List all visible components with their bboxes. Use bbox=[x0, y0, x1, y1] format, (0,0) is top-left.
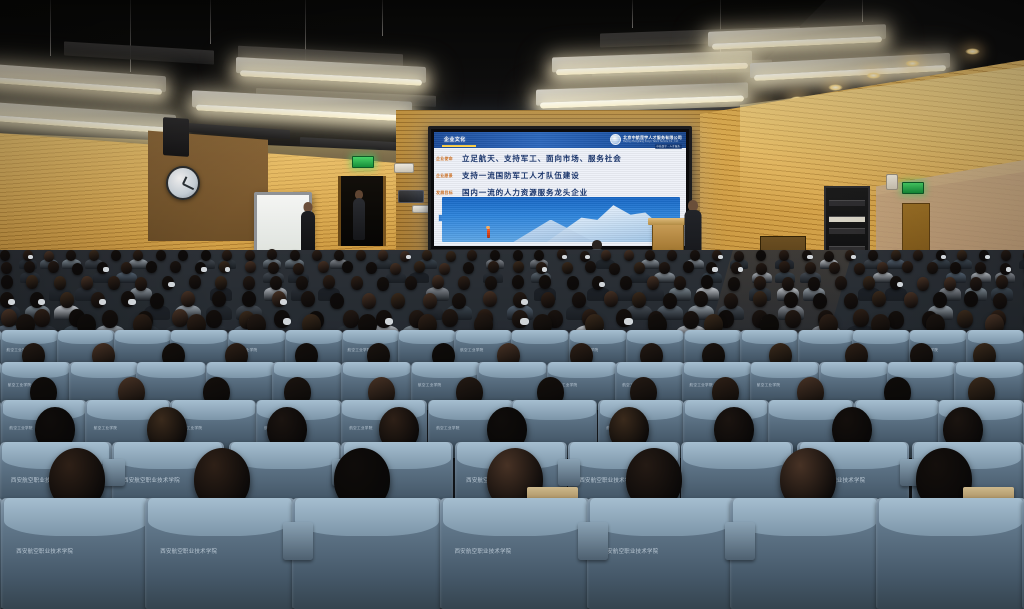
audience-head bbox=[405, 276, 417, 290]
audience-head bbox=[270, 276, 282, 290]
slide-line: 企业使命 立足航天、支持军工、面向市场、服务社会 bbox=[434, 150, 686, 167]
seat-headrest bbox=[910, 330, 966, 344]
seat-headrest bbox=[683, 442, 791, 469]
audience-head bbox=[342, 261, 353, 273]
audience-head bbox=[423, 293, 437, 309]
face-mask bbox=[225, 267, 231, 272]
audience-head bbox=[562, 262, 573, 274]
audience-head bbox=[970, 277, 982, 291]
speaker-icon bbox=[163, 117, 189, 157]
audience-head bbox=[835, 276, 847, 290]
wall-clock-icon bbox=[166, 166, 200, 200]
company-logo-mark bbox=[610, 134, 621, 145]
slide-line-tag: 企业使命 bbox=[436, 156, 462, 162]
audience-head bbox=[377, 277, 389, 291]
seat-headrest bbox=[590, 498, 734, 536]
audience-head bbox=[863, 276, 875, 290]
seat-armrest bbox=[558, 459, 580, 486]
audience-head bbox=[917, 277, 929, 291]
seat-headrest bbox=[286, 330, 342, 344]
seat-headrest bbox=[821, 362, 888, 378]
lamp-wire bbox=[130, 0, 131, 72]
seat-headrest bbox=[274, 362, 341, 378]
seat-headrest bbox=[207, 362, 274, 378]
lamp-wire bbox=[382, 0, 383, 36]
audience-head bbox=[632, 292, 646, 308]
audience-head bbox=[785, 310, 801, 328]
audience-head bbox=[694, 291, 708, 307]
audience-head bbox=[534, 250, 544, 261]
audience-head bbox=[964, 291, 978, 307]
audience-head bbox=[927, 262, 938, 274]
audience-head bbox=[60, 292, 74, 308]
audience-head bbox=[111, 250, 121, 261]
audience-head bbox=[891, 250, 901, 261]
audience-head bbox=[944, 277, 956, 291]
audience-head bbox=[133, 250, 143, 261]
audience-head bbox=[172, 309, 188, 327]
audience-head bbox=[72, 263, 83, 275]
audience-head bbox=[683, 261, 694, 273]
downlight bbox=[905, 60, 920, 67]
audience-head bbox=[1, 262, 12, 274]
seat-headrest bbox=[570, 330, 626, 344]
face-mask bbox=[585, 255, 590, 259]
audience-head bbox=[853, 309, 869, 327]
seat-headrest bbox=[171, 330, 227, 344]
downlight bbox=[828, 84, 843, 91]
lamp-wire bbox=[50, 0, 51, 56]
audience-head bbox=[1, 275, 13, 289]
wall-panel-plate[interactable] bbox=[886, 174, 898, 190]
audience-head bbox=[330, 293, 344, 309]
audience-head bbox=[512, 275, 524, 289]
auditorium-seat[interactable] bbox=[876, 498, 1024, 609]
staff-by-whiteboard bbox=[300, 202, 315, 254]
audience-head bbox=[779, 250, 789, 261]
audience-head bbox=[89, 250, 99, 261]
downlight bbox=[965, 48, 980, 55]
seat-headrest bbox=[617, 362, 684, 378]
audience-head bbox=[844, 293, 858, 309]
audience-head bbox=[933, 292, 947, 308]
seat-headrest bbox=[733, 498, 877, 536]
seat-brand-text: 西安航空职业技术学院 bbox=[123, 476, 180, 484]
seat-headrest bbox=[853, 330, 909, 344]
audience-head bbox=[659, 262, 670, 274]
seat-headrest bbox=[399, 330, 455, 344]
person-in-doorway bbox=[352, 190, 365, 240]
audience-head bbox=[293, 263, 304, 275]
audience-head bbox=[301, 291, 315, 307]
seat-armrest bbox=[578, 522, 608, 560]
seat-headrest bbox=[685, 330, 741, 344]
seat-headrest bbox=[548, 362, 615, 378]
seat-headrest bbox=[742, 330, 798, 344]
audience-head bbox=[813, 293, 827, 309]
auditorium-seat[interactable]: 西安航空职业技术学院 bbox=[145, 498, 295, 609]
face-mask bbox=[406, 255, 411, 259]
slide-body: 企业使命 立足航天、支持军工、面向市场、服务社会 企业愿景 支持一流国防军工人才… bbox=[434, 150, 686, 201]
audience-head bbox=[728, 277, 740, 291]
audience-head bbox=[756, 250, 766, 261]
seat-headrest bbox=[4, 498, 148, 536]
audience-head bbox=[463, 262, 474, 274]
exit-sign-icon bbox=[352, 156, 374, 168]
seat-brand-text: 航空工业学院 bbox=[757, 383, 780, 388]
auditorium-photo: 企业文化 北京中航昆宇人才服务有限公司 Beijing Zhonghang Ku… bbox=[0, 0, 1024, 609]
seat-headrest bbox=[343, 362, 410, 378]
face-mask bbox=[8, 299, 15, 305]
slide-mountain-image bbox=[442, 197, 680, 242]
audience-head bbox=[585, 261, 596, 273]
audience-head bbox=[439, 263, 450, 275]
audience-head bbox=[824, 251, 834, 262]
audience-head bbox=[170, 261, 181, 273]
audience-head bbox=[414, 261, 425, 273]
audience-head bbox=[913, 250, 923, 261]
face-mask bbox=[624, 318, 632, 325]
seat-headrest bbox=[115, 330, 171, 344]
seat-headrest bbox=[2, 362, 69, 378]
audience-head bbox=[683, 311, 699, 329]
audience-head bbox=[620, 276, 632, 290]
audience-head bbox=[318, 261, 329, 273]
audience-head bbox=[422, 250, 432, 261]
seat-headrest bbox=[148, 498, 292, 536]
audience-head bbox=[432, 275, 444, 289]
face-mask bbox=[1006, 267, 1012, 272]
audience-head bbox=[753, 291, 767, 307]
audience-head bbox=[390, 263, 401, 275]
audience-head bbox=[312, 250, 322, 261]
audience-head bbox=[206, 310, 222, 328]
audience-head bbox=[351, 276, 363, 290]
seat-brand-text: 航空工业学院 bbox=[689, 383, 712, 388]
seat-headrest bbox=[71, 362, 138, 378]
face-mask bbox=[520, 318, 528, 325]
audience-head bbox=[957, 310, 973, 328]
audience-head bbox=[663, 293, 677, 309]
audience-head bbox=[872, 291, 886, 307]
audience-head bbox=[805, 262, 816, 274]
audience-head bbox=[296, 276, 308, 290]
audience-head bbox=[513, 261, 524, 273]
seat-armrest bbox=[103, 459, 125, 486]
seat-brand-text: 航空工业学院 bbox=[418, 383, 441, 388]
face-mask bbox=[521, 299, 528, 305]
seat-headrest bbox=[295, 498, 439, 536]
seat-headrest bbox=[343, 330, 399, 344]
seat-armrest bbox=[283, 522, 313, 560]
seat-headrest bbox=[684, 362, 751, 378]
seat-headrest bbox=[412, 362, 479, 378]
audience-head bbox=[66, 250, 76, 261]
seat-brand-text: 航空工业学院 bbox=[94, 426, 117, 431]
face-mask bbox=[283, 318, 291, 325]
audience-head bbox=[957, 250, 967, 261]
audience-head bbox=[754, 276, 766, 290]
audience-head bbox=[44, 251, 54, 262]
lamp-wire bbox=[210, 0, 211, 44]
face-mask bbox=[941, 255, 946, 259]
seat-headrest bbox=[58, 330, 114, 344]
face-mask bbox=[718, 255, 723, 259]
slide-line: 企业愿景 支持一流国防军工人才队伍建设 bbox=[434, 167, 686, 184]
audience-head bbox=[674, 276, 686, 290]
seat-headrest bbox=[512, 330, 568, 344]
wall-panel-plate[interactable] bbox=[394, 163, 414, 173]
audience-head bbox=[604, 291, 618, 307]
face-mask bbox=[280, 299, 287, 305]
seat-headrest bbox=[956, 362, 1023, 378]
audience-head bbox=[690, 250, 700, 261]
audience-head bbox=[452, 293, 466, 309]
auditorium-seat[interactable] bbox=[292, 498, 442, 609]
audience-head bbox=[323, 275, 335, 289]
audience-head bbox=[975, 262, 986, 274]
audience-head bbox=[146, 261, 157, 273]
face-mask bbox=[985, 255, 990, 259]
seat-headrest bbox=[513, 400, 596, 420]
seat-headrest bbox=[751, 362, 818, 378]
slide-line-text: 立足航天、支持军工、面向市场、服务社会 bbox=[462, 153, 622, 164]
seat-brand-text: 西安航空职业技术学院 bbox=[602, 547, 659, 555]
audience-head bbox=[572, 292, 586, 308]
face-mask bbox=[99, 299, 106, 305]
audience-head bbox=[54, 276, 66, 290]
audience-head bbox=[993, 293, 1007, 309]
audience-head bbox=[290, 250, 300, 261]
seat-headrest bbox=[231, 442, 339, 469]
audience-head bbox=[647, 276, 659, 290]
audience-head bbox=[245, 261, 256, 273]
audience-head bbox=[24, 261, 35, 273]
audience-head bbox=[513, 250, 523, 261]
presentation-slide: 企业文化 北京中航昆宇人才服务有限公司 Beijing Zhonghang Ku… bbox=[434, 132, 686, 246]
seat-headrest bbox=[172, 400, 255, 420]
seat-brand-text: 航空工业学院 bbox=[460, 348, 483, 353]
seat-brand-text: 西安航空职业技术学院 bbox=[16, 547, 73, 555]
audience-head bbox=[854, 263, 865, 275]
audience-head bbox=[888, 311, 904, 329]
slide-line-tag: 发展目标 bbox=[436, 190, 462, 196]
seat-headrest bbox=[443, 498, 587, 536]
audience-head bbox=[808, 277, 820, 291]
audience-head bbox=[782, 277, 794, 291]
audience-head bbox=[756, 263, 767, 275]
audience-head bbox=[950, 262, 961, 274]
downlight bbox=[866, 72, 881, 79]
audience-head bbox=[483, 291, 497, 307]
audience-head bbox=[458, 276, 470, 290]
auditorium-seat[interactable]: 西安航空职业技术学院 bbox=[1, 498, 151, 609]
slide-title-underline bbox=[442, 145, 476, 147]
audience-head bbox=[609, 263, 620, 275]
audience-head bbox=[334, 250, 344, 261]
audience-head bbox=[391, 293, 405, 309]
audience-head bbox=[268, 262, 279, 274]
seat-headrest bbox=[2, 330, 58, 344]
audience-head bbox=[446, 251, 456, 262]
lamp-wire bbox=[862, 0, 863, 22]
company-logo-sub: 中航昆宇 · 人才服务 bbox=[655, 144, 682, 149]
audience-head bbox=[601, 250, 611, 261]
seat-headrest bbox=[627, 330, 683, 344]
audience-head bbox=[904, 292, 918, 308]
seat-headrest bbox=[229, 330, 285, 344]
audience-head bbox=[624, 250, 634, 261]
seat-brand-text: 西安航空职业技术学院 bbox=[455, 547, 512, 555]
audience-head bbox=[212, 291, 226, 307]
audience-head bbox=[724, 293, 738, 309]
face-mask bbox=[128, 299, 135, 305]
audience-head bbox=[378, 250, 388, 261]
audience-head bbox=[645, 250, 655, 261]
face-mask bbox=[851, 255, 856, 259]
slide-line-tag: 企业愿景 bbox=[436, 173, 462, 179]
seat-brand-text: 航空工业学院 bbox=[436, 426, 459, 431]
audience-head bbox=[102, 310, 118, 328]
audience-head bbox=[541, 292, 555, 308]
audience-head bbox=[734, 251, 744, 262]
audience-head bbox=[150, 293, 164, 309]
audience-head bbox=[490, 250, 500, 261]
audience-head bbox=[343, 310, 359, 328]
seat-headrest bbox=[137, 362, 204, 378]
face-mask bbox=[712, 267, 718, 272]
audience-head bbox=[902, 261, 913, 273]
slide-title: 企业文化 bbox=[444, 136, 466, 143]
seat-brand-text: 航空工业学院 bbox=[349, 426, 372, 431]
audience-head bbox=[121, 262, 132, 274]
audience-head bbox=[567, 276, 579, 290]
seat-headrest bbox=[479, 362, 546, 378]
audience-head bbox=[784, 292, 798, 308]
seat-headrest bbox=[888, 362, 955, 378]
audience-head bbox=[215, 276, 227, 290]
auditorium-seat[interactable]: 西安航空职业技术学院 bbox=[440, 498, 590, 609]
company-logo-cn: 北京中航昆宇人才服务有限公司 bbox=[623, 136, 682, 140]
seat-headrest bbox=[968, 330, 1024, 344]
seat-brand-text: 西安航空职业技术学院 bbox=[160, 547, 217, 555]
face-mask bbox=[738, 267, 744, 272]
audience-head bbox=[356, 250, 366, 261]
audience-head bbox=[81, 276, 93, 290]
audience-head bbox=[0, 250, 10, 261]
face-mask bbox=[385, 318, 393, 325]
audience-head bbox=[178, 250, 188, 261]
lamp-wire bbox=[632, 0, 633, 28]
audience-head bbox=[488, 261, 499, 273]
audience-head bbox=[181, 291, 195, 307]
face-mask bbox=[807, 255, 812, 259]
climber-figure bbox=[487, 229, 490, 238]
audience-head bbox=[242, 291, 256, 307]
seat-brand-text: 航空工业学院 bbox=[8, 383, 31, 388]
audience-head bbox=[539, 275, 551, 289]
audience-head bbox=[222, 250, 232, 261]
company-logo-en: Beijing Zhonghang Kunyu Talent Service C… bbox=[623, 141, 682, 143]
audience-head bbox=[829, 262, 840, 274]
seat-headrest bbox=[456, 330, 512, 344]
audience-head bbox=[485, 276, 497, 290]
seat-brand-text: 航空工业学院 bbox=[9, 426, 32, 431]
seat-armrest bbox=[725, 522, 755, 560]
seat-headrest bbox=[879, 498, 1023, 536]
auditorium-seat[interactable]: 西安航空职业技术学院 bbox=[587, 498, 737, 609]
face-mask bbox=[201, 267, 207, 272]
slide-line-text: 支持一流国防军工人才队伍建设 bbox=[462, 170, 580, 181]
audience-head bbox=[135, 277, 147, 291]
audience-head bbox=[362, 293, 376, 309]
audience-head bbox=[1, 309, 17, 327]
audience-head bbox=[108, 276, 120, 290]
exit-sign-icon bbox=[902, 182, 924, 194]
face-mask bbox=[103, 267, 109, 272]
podium-top bbox=[648, 218, 686, 225]
face-mask bbox=[542, 267, 548, 272]
face-mask bbox=[168, 282, 174, 288]
wall-control-panel[interactable] bbox=[398, 190, 424, 203]
seat-headrest bbox=[799, 330, 855, 344]
